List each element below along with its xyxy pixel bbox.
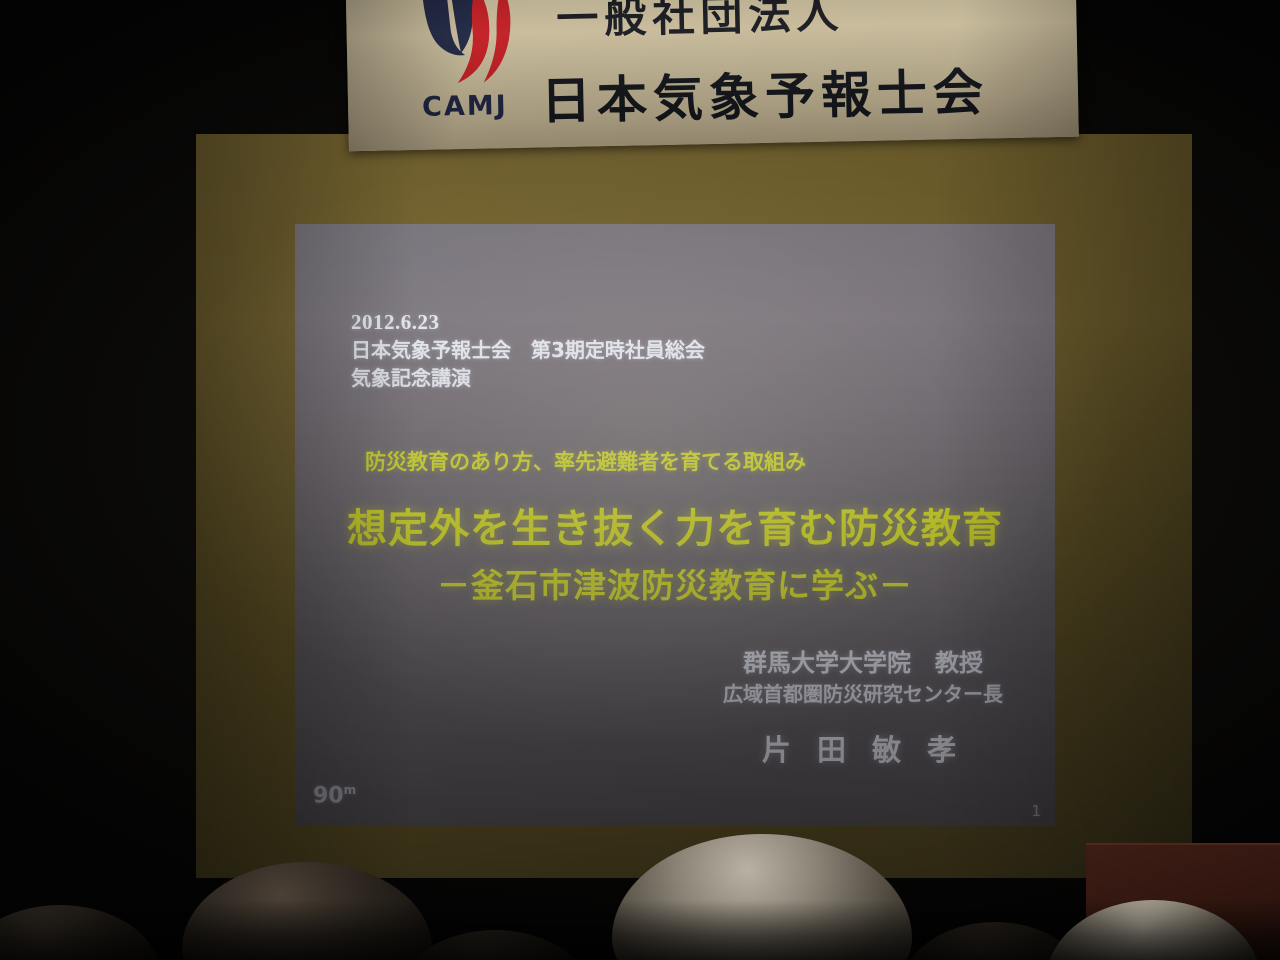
banner-line-corporate-form: 一般社団法人	[556, 0, 845, 46]
speaker-affiliation-primary: 群馬大学大学院 教授	[723, 646, 1003, 680]
speaker-name: 片 田 敏 孝	[723, 730, 1003, 771]
slide-watermark: 90m	[313, 783, 356, 808]
camj-logo: CAMJ	[408, 0, 551, 134]
camj-flame-logo-icon	[416, 0, 538, 90]
slide-title-main: 想定外を生き抜く力を育む防災教育	[295, 496, 1055, 554]
foreground-shadow	[0, 900, 1280, 960]
speaker-affiliation-secondary: 広域首都圏防災研究センター長	[723, 680, 1003, 708]
slide-speaker-block: 群馬大学大学院 教授 広域首都圏防災研究センター長 片 田 敏 孝	[723, 646, 1003, 772]
slide-meta-block: 2012.6.23 日本気象予報士会 第3期定時社員総会 気象記念講演	[351, 308, 705, 392]
slide-title-sub: －釜石市津波防災教育に学ぶ－	[295, 559, 1055, 607]
hanging-banner: CAMJ 一般社団法人 日本気象予報士会	[345, 0, 1079, 151]
projection-screen-board: 2012.6.23 日本気象予報士会 第3期定時社員総会 気象記念講演 防災教育…	[196, 134, 1192, 878]
banner-line-organization: 日本気象予報士会	[540, 52, 989, 133]
slide-date: 2012.6.23	[351, 308, 705, 337]
projected-slide: 2012.6.23 日本気象予報士会 第3期定時社員総会 気象記念講演 防災教育…	[295, 224, 1055, 826]
watermark-unit: m	[344, 783, 357, 797]
slide-organization-line: 日本気象予報士会 第3期定時社員総会	[351, 337, 705, 365]
camj-logo-text: CAMJ	[422, 90, 508, 123]
banner-inner: CAMJ 一般社団法人 日本気象予報士会	[345, 0, 1079, 151]
photo-scene: 2012.6.23 日本気象予報士会 第3期定時社員総会 気象記念講演 防災教育…	[0, 0, 1280, 960]
slide-page-number: 1	[1031, 802, 1041, 820]
watermark-value: 90	[313, 783, 344, 808]
slide-content: 2012.6.23 日本気象予報士会 第3期定時社員総会 気象記念講演 防災教育…	[295, 224, 1055, 826]
slide-event-line: 気象記念講演	[351, 365, 705, 393]
slide-subtitle-small: 防災教育のあり方、率先避難者を育てる取組み	[365, 446, 806, 476]
